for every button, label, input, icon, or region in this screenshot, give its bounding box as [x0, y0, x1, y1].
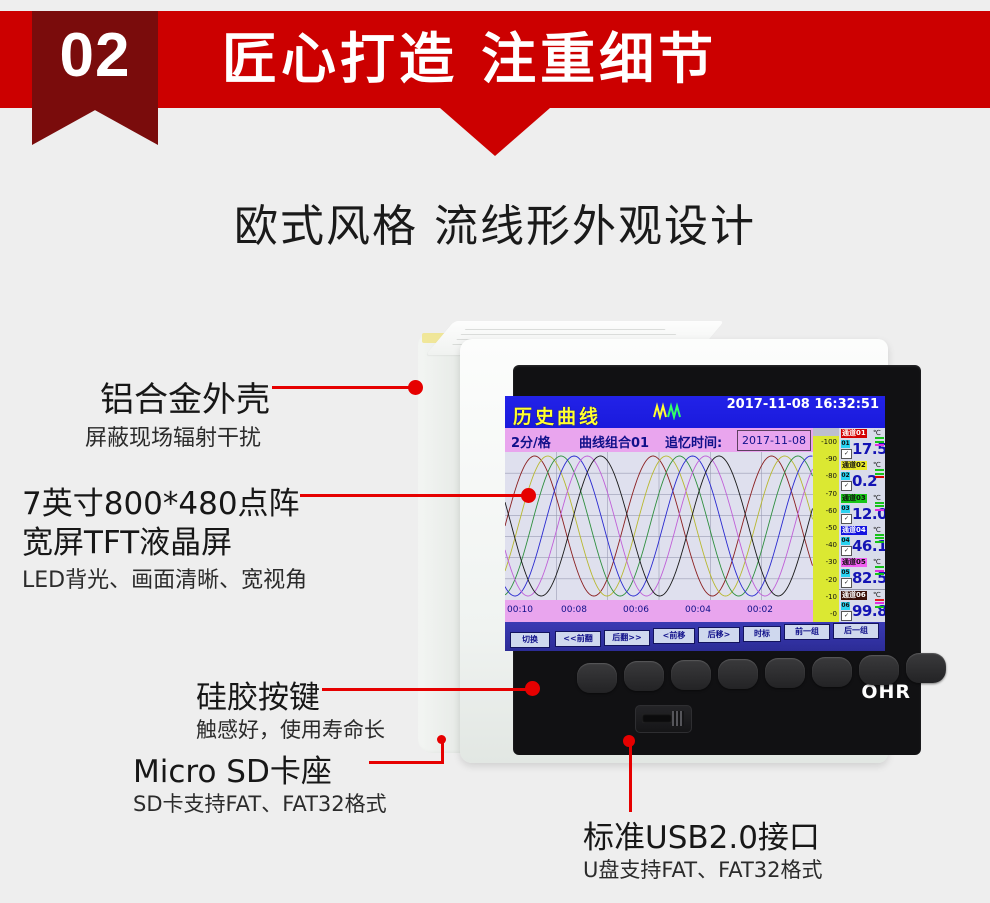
time-axis: 00:1000:0800:0600:0400:02: [505, 600, 813, 622]
leader-line-aluminium-case: [272, 386, 417, 389]
channel-status-bars: [875, 534, 884, 545]
scale-tick-label: -20: [826, 576, 837, 584]
screen-title-bar: 历史曲线 2017-11-08 16:32:51: [505, 396, 885, 428]
scale-tick-label: -40: [826, 541, 837, 549]
screen-button[interactable]: 前一组: [784, 624, 830, 640]
channel-unit-label: ℃: [873, 494, 881, 502]
time-per-division-label: 2分/格: [511, 432, 551, 451]
callout-silicone-keys-sub: 触感好，使用寿命长: [196, 714, 385, 744]
scale-tick-label: -90: [826, 455, 837, 463]
channel-row[interactable]: 通道03℃03✓12.0: [839, 493, 885, 526]
callout-usb-sub: U盘支持FAT、FAT32格式: [583, 854, 823, 884]
time-axis-tick: 00:08: [561, 605, 587, 615]
callout-micro-sd-title: Micro SD卡座: [133, 746, 332, 791]
screen-button[interactable]: 切换: [510, 632, 550, 648]
screen-info-bar: 2分/格 曲线组合01 追忆时间: 2017-11-08 16:32:30: [505, 428, 813, 453]
channel-status-bars: [875, 566, 884, 577]
history-curve-plot[interactable]: [505, 452, 813, 600]
channel-number-badge: 03: [841, 505, 850, 513]
soft-key-5[interactable]: [765, 658, 805, 688]
screen-title: 历史曲线: [513, 402, 601, 429]
callout-silicone-keys-title: 硅胶按键: [196, 672, 320, 717]
recall-time-value[interactable]: 2017-11-08 16:32:30: [737, 430, 811, 451]
channel-enable-checkbox[interactable]: ✓: [841, 546, 852, 556]
usb-port[interactable]: [635, 705, 692, 733]
channel-unit-label: ℃: [873, 591, 881, 599]
callout-micro-sd-sub: SD卡支持FAT、FAT32格式: [133, 788, 387, 818]
channel-number-badge: 05: [841, 569, 850, 577]
lcd-screen[interactable]: 历史曲线 2017-11-08 16:32:51 2分/格 曲线组合01 追忆时…: [505, 396, 885, 651]
section-number-badge: 02: [32, 11, 158, 145]
usb-contact-teeth: [672, 711, 684, 726]
time-axis-tick: 00:06: [623, 605, 649, 615]
callout-lcd-title-line2: 宽屏TFT液晶屏: [22, 517, 232, 562]
channel-status-bars: [875, 437, 884, 448]
channel-enable-checkbox[interactable]: ✓: [841, 611, 852, 621]
leader-dot-silicone-keys: [525, 681, 540, 696]
scale-tick-label: -10: [826, 593, 837, 601]
channel-row[interactable]: 通道02℃02✓0.2: [839, 460, 885, 493]
header-arrow-pointer: [440, 108, 550, 156]
page-subtitle: 欧式风格 流线形外观设计: [0, 190, 990, 254]
channel-row[interactable]: 通道06℃06✓99.8: [839, 590, 885, 623]
channel-row[interactable]: 通道05℃05✓82.5: [839, 557, 885, 590]
time-axis-tick: 00:04: [685, 605, 711, 615]
channel-unit-label: ℃: [873, 429, 881, 437]
soft-key-1[interactable]: [577, 663, 617, 693]
time-axis-tick: 00:02: [747, 605, 773, 615]
channel-status-bars: [875, 599, 884, 610]
leader-line-micro-sd: [369, 761, 444, 764]
channel-number-badge: 01: [841, 440, 850, 448]
waveform-logo-icon: [652, 402, 682, 420]
channel-enable-checkbox[interactable]: ✓: [841, 481, 852, 491]
callout-aluminium-case-title: 铝合金外壳: [100, 372, 270, 421]
channel-name-tag: 通道05: [841, 558, 867, 567]
leader-dot-usb: [623, 735, 635, 747]
leader-line-micro-sd-vertical: [441, 739, 444, 763]
soft-key-8[interactable]: [906, 653, 946, 683]
callout-lcd-sub: LED背光、画面清晰、宽视角: [22, 562, 307, 594]
channel-name-tag: 通道03: [841, 494, 867, 503]
time-axis-tick: 00:10: [507, 605, 533, 615]
channel-unit-label: ℃: [873, 461, 881, 469]
screen-button[interactable]: <<前翻: [555, 631, 601, 647]
page-title: 匠心打造 注重细节: [222, 22, 922, 96]
lcd-screen-content: 历史曲线 2017-11-08 16:32:51 2分/格 曲线组合01 追忆时…: [505, 396, 885, 651]
soft-key-3[interactable]: [671, 660, 711, 690]
scale-tick-label: -30: [826, 558, 837, 566]
channel-row[interactable]: 通道01℃01✓17.5: [839, 428, 885, 461]
channel-number-badge: 06: [841, 602, 850, 610]
leader-line-lcd: [300, 494, 528, 497]
channel-unit-label: ℃: [873, 526, 881, 534]
channel-unit-label: ℃: [873, 558, 881, 566]
leader-line-usb: [629, 742, 632, 812]
soft-key-7[interactable]: [859, 655, 899, 685]
scale-tick-label: -0: [830, 610, 837, 618]
screen-datetime: 2017-11-08 16:32:51: [727, 397, 879, 412]
channel-name-tag: 通道02: [841, 461, 867, 470]
scale-tick-label: -60: [826, 507, 837, 515]
screen-button[interactable]: 后翻>>: [604, 630, 650, 646]
value-scale-axis: -100-90-80-70-60-50-40-30-20-10-0: [813, 436, 839, 622]
screen-button[interactable]: <前移: [653, 628, 695, 644]
channel-readout-panel: 通道01℃01✓17.5通道02℃02✓0.2通道03℃03✓12.0通道04℃…: [839, 428, 885, 622]
leader-dot-aluminium-case: [408, 380, 423, 395]
channel-name-tag: 通道01: [841, 429, 867, 438]
scale-tick-label: -70: [826, 490, 837, 498]
callout-usb-title: 标准USB2.0接口: [583, 812, 820, 857]
channel-enable-checkbox[interactable]: ✓: [841, 449, 852, 459]
leader-line-silicone-keys: [322, 688, 534, 691]
scale-tick-label: -100: [821, 438, 837, 446]
screen-button[interactable]: 后移>: [698, 627, 740, 643]
channel-enable-checkbox[interactable]: ✓: [841, 578, 852, 588]
soft-key-4[interactable]: [718, 659, 758, 689]
silicone-key-row: [577, 657, 963, 689]
screen-button-bar: 切换<<前翻后翻>><前移后移>时标前一组后一组: [505, 622, 885, 651]
channel-number-badge: 02: [841, 472, 850, 480]
screen-button[interactable]: 后一组: [833, 623, 879, 639]
leader-dot-lcd: [521, 488, 536, 503]
usb-slot-opening: [642, 714, 672, 723]
channel-number-badge: 04: [841, 537, 850, 545]
scale-tick-label: -80: [826, 472, 837, 480]
badge-number-label: 02: [32, 25, 158, 87]
channel-row[interactable]: 通道04℃04✓46.1: [839, 525, 885, 558]
callout-aluminium-case-sub: 屏蔽现场辐射干扰: [85, 420, 261, 452]
screen-button[interactable]: 时标: [743, 626, 781, 642]
channel-enable-checkbox[interactable]: ✓: [841, 514, 852, 524]
channel-status-bars: [875, 502, 884, 513]
channel-name-tag: 通道04: [841, 526, 867, 535]
soft-key-6[interactable]: [812, 657, 852, 687]
scale-tick-label: -50: [826, 524, 837, 532]
recall-time-label: 追忆时间:: [665, 432, 722, 451]
channel-name-tag: 通道06: [841, 591, 867, 600]
soft-key-2[interactable]: [624, 661, 664, 691]
channel-status-bars: [875, 469, 884, 480]
curve-group-label: 曲线组合01: [579, 432, 649, 451]
